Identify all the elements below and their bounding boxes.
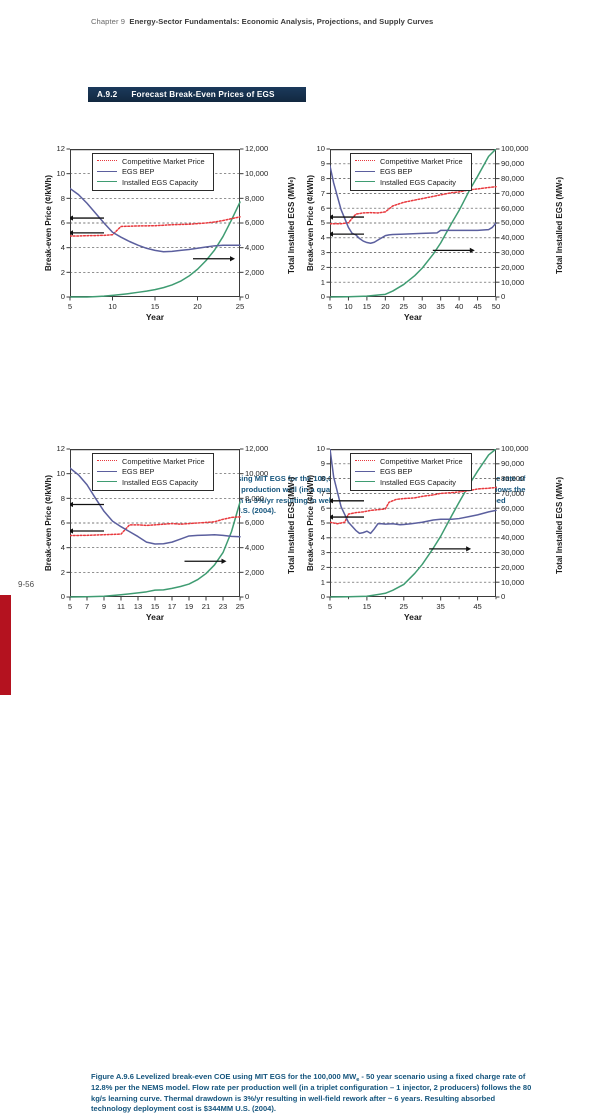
series-line (330, 487, 496, 523)
y-tick-label-right: 10,000 (245, 469, 268, 478)
y-tick-label-left: 5 (306, 518, 325, 527)
y-tick-label-right: 40,000 (501, 533, 524, 542)
y-tick-label-right: 80,000 (501, 474, 524, 483)
y-tick-label-right: 12,000 (245, 444, 268, 453)
y-tick-label-right: 60,000 (501, 504, 524, 513)
y-tick-label-right: 40,000 (501, 233, 524, 242)
axis-pointer-arrow (70, 230, 104, 235)
chart-fig-a96-50yr: Break-even Price (¢/kWh)Total Installed … (306, 438, 564, 630)
y-tick-label-right: 70,000 (501, 489, 524, 498)
y-tick-label-left: 6 (44, 518, 65, 527)
y-tick-label-right: 50,000 (501, 518, 524, 527)
y-tick-label-right: 4,000 (245, 243, 264, 252)
y-tick-label-left: 0 (306, 292, 325, 301)
y-tick-label-left: 6 (306, 504, 325, 513)
y-tick-label-right: 0 (501, 592, 505, 601)
x-axis-title: Year (330, 312, 496, 322)
y-tick-label-left: 10 (44, 169, 65, 178)
y-tick-label-left: 5 (306, 218, 325, 227)
y-tick-label-left: 8 (306, 474, 325, 483)
y-tick-label-right: 50,000 (501, 218, 524, 227)
y-axis-title-right: Total Installed EGS (MWe) (287, 443, 296, 607)
y-tick-label-right: 90,000 (501, 159, 524, 168)
series-line (330, 187, 496, 224)
y-tick-label-left: 9 (306, 459, 325, 468)
y-tick-label-right: 6,000 (245, 218, 264, 227)
legend-label: Installed EGS Capacity (380, 178, 456, 187)
y-tick-label-right: 8,000 (245, 494, 264, 503)
axis-pointer-arrow (70, 528, 104, 533)
running-head-chapter: Chapter 9 (91, 17, 125, 26)
y-tick-label-right: 2,000 (245, 568, 264, 577)
x-tick-label: 35 (429, 602, 453, 611)
y-tick-label-right: 10,000 (245, 169, 268, 178)
y-tick-label-left: 4 (44, 543, 65, 552)
y-tick-label-left: 2 (44, 268, 65, 277)
y-tick-label-right: 0 (245, 592, 249, 601)
x-tick-label: 15 (355, 602, 379, 611)
legend-label: Competitive Market Price (380, 157, 463, 166)
y-tick-label-left: 2 (306, 563, 325, 572)
y-tick-label-right: 90,000 (501, 459, 524, 468)
legend-item: Installed EGS Capacity (93, 477, 213, 488)
y-axis-title-right: Total Installed EGS (MWe) (555, 443, 564, 607)
document-page: Chapter 9 Energy-Sector Fundamentals: Ec… (0, 0, 612, 792)
x-axis-title: Year (70, 612, 240, 622)
figure-a96: Break-even Price (¢/kWh)Total Installed … (0, 438, 612, 698)
running-head-title: Energy-Sector Fundamentals: Economic Ana… (129, 17, 433, 26)
figure-a95-charts: Break-even Price (¢/kWh)Total Installed … (0, 138, 612, 328)
y-tick-label-right: 10,000 (501, 278, 524, 287)
y-tick-label-left: 0 (44, 592, 65, 601)
legend-item: EGS BEP (93, 467, 213, 478)
legend-item: EGS BEP (351, 167, 471, 178)
y-tick-label-right: 2,000 (245, 268, 264, 277)
y-tick-label-left: 4 (306, 533, 325, 542)
chart-fig-a96-25yr: Break-even Price (¢/kWh)Total Installed … (44, 438, 296, 630)
legend-label: Competitive Market Price (122, 157, 205, 166)
legend-label: EGS BEP (380, 467, 412, 476)
axis-pointer-arrow (185, 559, 227, 564)
x-tick-label: 15 (143, 302, 167, 311)
x-axis-title: Year (70, 312, 240, 322)
y-tick-label-left: 12 (44, 444, 65, 453)
y-tick-label-left: 12 (44, 144, 65, 153)
legend-label: Installed EGS Capacity (122, 478, 198, 487)
x-tick-label: 50 (484, 302, 508, 311)
section-number: A.9.2 (97, 90, 117, 99)
y-tick-label-right: 4,000 (245, 543, 264, 552)
y-tick-label-right: 80,000 (501, 174, 524, 183)
legend-label: EGS BEP (380, 167, 412, 176)
legend-label: Installed EGS Capacity (380, 478, 456, 487)
y-tick-label-left: 2 (306, 263, 325, 272)
y-tick-label-left: 4 (44, 243, 65, 252)
chart-legend: Competitive Market PriceEGS BEPInstalled… (350, 153, 472, 191)
legend-item: Competitive Market Price (93, 456, 213, 467)
figure-a96-caption: Figure A.9.6 Levelized break-even COE us… (91, 1072, 534, 1115)
axis-pointer-arrow (429, 546, 471, 551)
x-tick-label: 5 (318, 602, 342, 611)
y-tick-label-right: 0 (501, 292, 505, 301)
chart-legend: Competitive Market PriceEGS BEPInstalled… (350, 453, 472, 491)
caption-subscript: e (356, 1077, 359, 1083)
chart-legend: Competitive Market PriceEGS BEPInstalled… (92, 453, 214, 491)
y-tick-label-left: 1 (306, 278, 325, 287)
y-tick-label-left: 1 (306, 578, 325, 587)
section-title: Forecast Break-Even Prices of EGS (131, 90, 274, 99)
legend-label: EGS BEP (122, 167, 154, 176)
y-tick-label-left: 8 (306, 174, 325, 183)
legend-item: Competitive Market Price (93, 156, 213, 167)
y-tick-label-left: 10 (44, 469, 65, 478)
y-tick-label-right: 30,000 (501, 548, 524, 557)
y-tick-label-right: 30,000 (501, 248, 524, 257)
figure-a96-charts: Break-even Price (¢/kWh)Total Installed … (0, 438, 612, 628)
y-tick-label-left: 0 (44, 292, 65, 301)
y-tick-label-left: 3 (306, 248, 325, 257)
axis-pointer-arrow (330, 232, 364, 237)
y-tick-label-left: 6 (44, 218, 65, 227)
x-tick-label: 5 (58, 302, 82, 311)
y-tick-label-right: 20,000 (501, 263, 524, 272)
x-tick-label: 25 (228, 602, 252, 611)
x-tick-label: 20 (186, 302, 210, 311)
series-line (70, 202, 240, 297)
y-tick-label-right: 6,000 (245, 518, 264, 527)
legend-label: Installed EGS Capacity (122, 178, 198, 187)
legend-item: EGS BEP (93, 167, 213, 178)
legend-item: Installed EGS Capacity (93, 177, 213, 188)
y-tick-label-right: 100,000 (501, 144, 528, 153)
y-tick-label-right: 60,000 (501, 204, 524, 213)
x-tick-label: 45 (466, 602, 490, 611)
running-head: Chapter 9 Energy-Sector Fundamentals: Ec… (91, 17, 433, 26)
y-tick-label-left: 8 (44, 494, 65, 503)
series-line (70, 502, 240, 597)
y-tick-label-left: 10 (306, 144, 325, 153)
series-line (70, 517, 240, 536)
y-tick-label-left: 8 (44, 194, 65, 203)
y-tick-label-left: 7 (306, 189, 325, 198)
y-tick-label-left: 6 (306, 204, 325, 213)
x-axis-title: Year (330, 612, 496, 622)
y-tick-label-left: 7 (306, 489, 325, 498)
axis-pointer-arrow (330, 214, 364, 219)
figure-a95: Break-even Price (¢/kWh)Total Installed … (0, 138, 612, 398)
y-tick-label-left: 2 (44, 568, 65, 577)
y-tick-label-right: 0 (245, 292, 249, 301)
x-tick-label: 25 (392, 602, 416, 611)
y-tick-label-right: 100,000 (501, 444, 528, 453)
y-tick-label-left: 4 (306, 233, 325, 242)
legend-item: Installed EGS Capacity (351, 177, 471, 188)
legend-label: EGS BEP (122, 467, 154, 476)
y-tick-label-right: 20,000 (501, 563, 524, 572)
chart-fig-a95-25yr: Break-even Price (¢/kWh)Total Installed … (44, 138, 296, 330)
legend-item: EGS BEP (351, 467, 471, 478)
y-tick-label-right: 8,000 (245, 194, 264, 203)
legend-label: Competitive Market Price (122, 457, 205, 466)
y-axis-title-right: Total Installed EGS (MWe) (555, 143, 564, 307)
legend-item: Installed EGS Capacity (351, 477, 471, 488)
series-line (70, 188, 240, 251)
legend-item: Competitive Market Price (351, 456, 471, 467)
x-tick-label: 10 (101, 302, 125, 311)
y-tick-label-right: 70,000 (501, 189, 524, 198)
legend-item: Competitive Market Price (351, 156, 471, 167)
legend-label: Competitive Market Price (380, 457, 463, 466)
section-header-band: A.9.2 Forecast Break-Even Prices of EGS (88, 87, 306, 102)
y-tick-label-right: 10,000 (501, 578, 524, 587)
y-tick-label-left: 9 (306, 159, 325, 168)
chart-fig-a95-50yr: Break-even Price (¢/kWh)Total Installed … (306, 138, 564, 330)
x-tick-label: 25 (228, 302, 252, 311)
axis-pointer-arrow (330, 498, 364, 503)
y-tick-label-left: 3 (306, 548, 325, 557)
axis-pointer-arrow (193, 256, 235, 261)
chart-legend: Competitive Market PriceEGS BEPInstalled… (92, 153, 214, 191)
axis-pointer-arrow (433, 248, 475, 253)
y-tick-label-right: 12,000 (245, 144, 268, 153)
y-tick-label-left: 0 (306, 592, 325, 601)
y-axis-title-right: Total Installed EGS (MWe) (287, 143, 296, 307)
y-tick-label-left: 10 (306, 444, 325, 453)
